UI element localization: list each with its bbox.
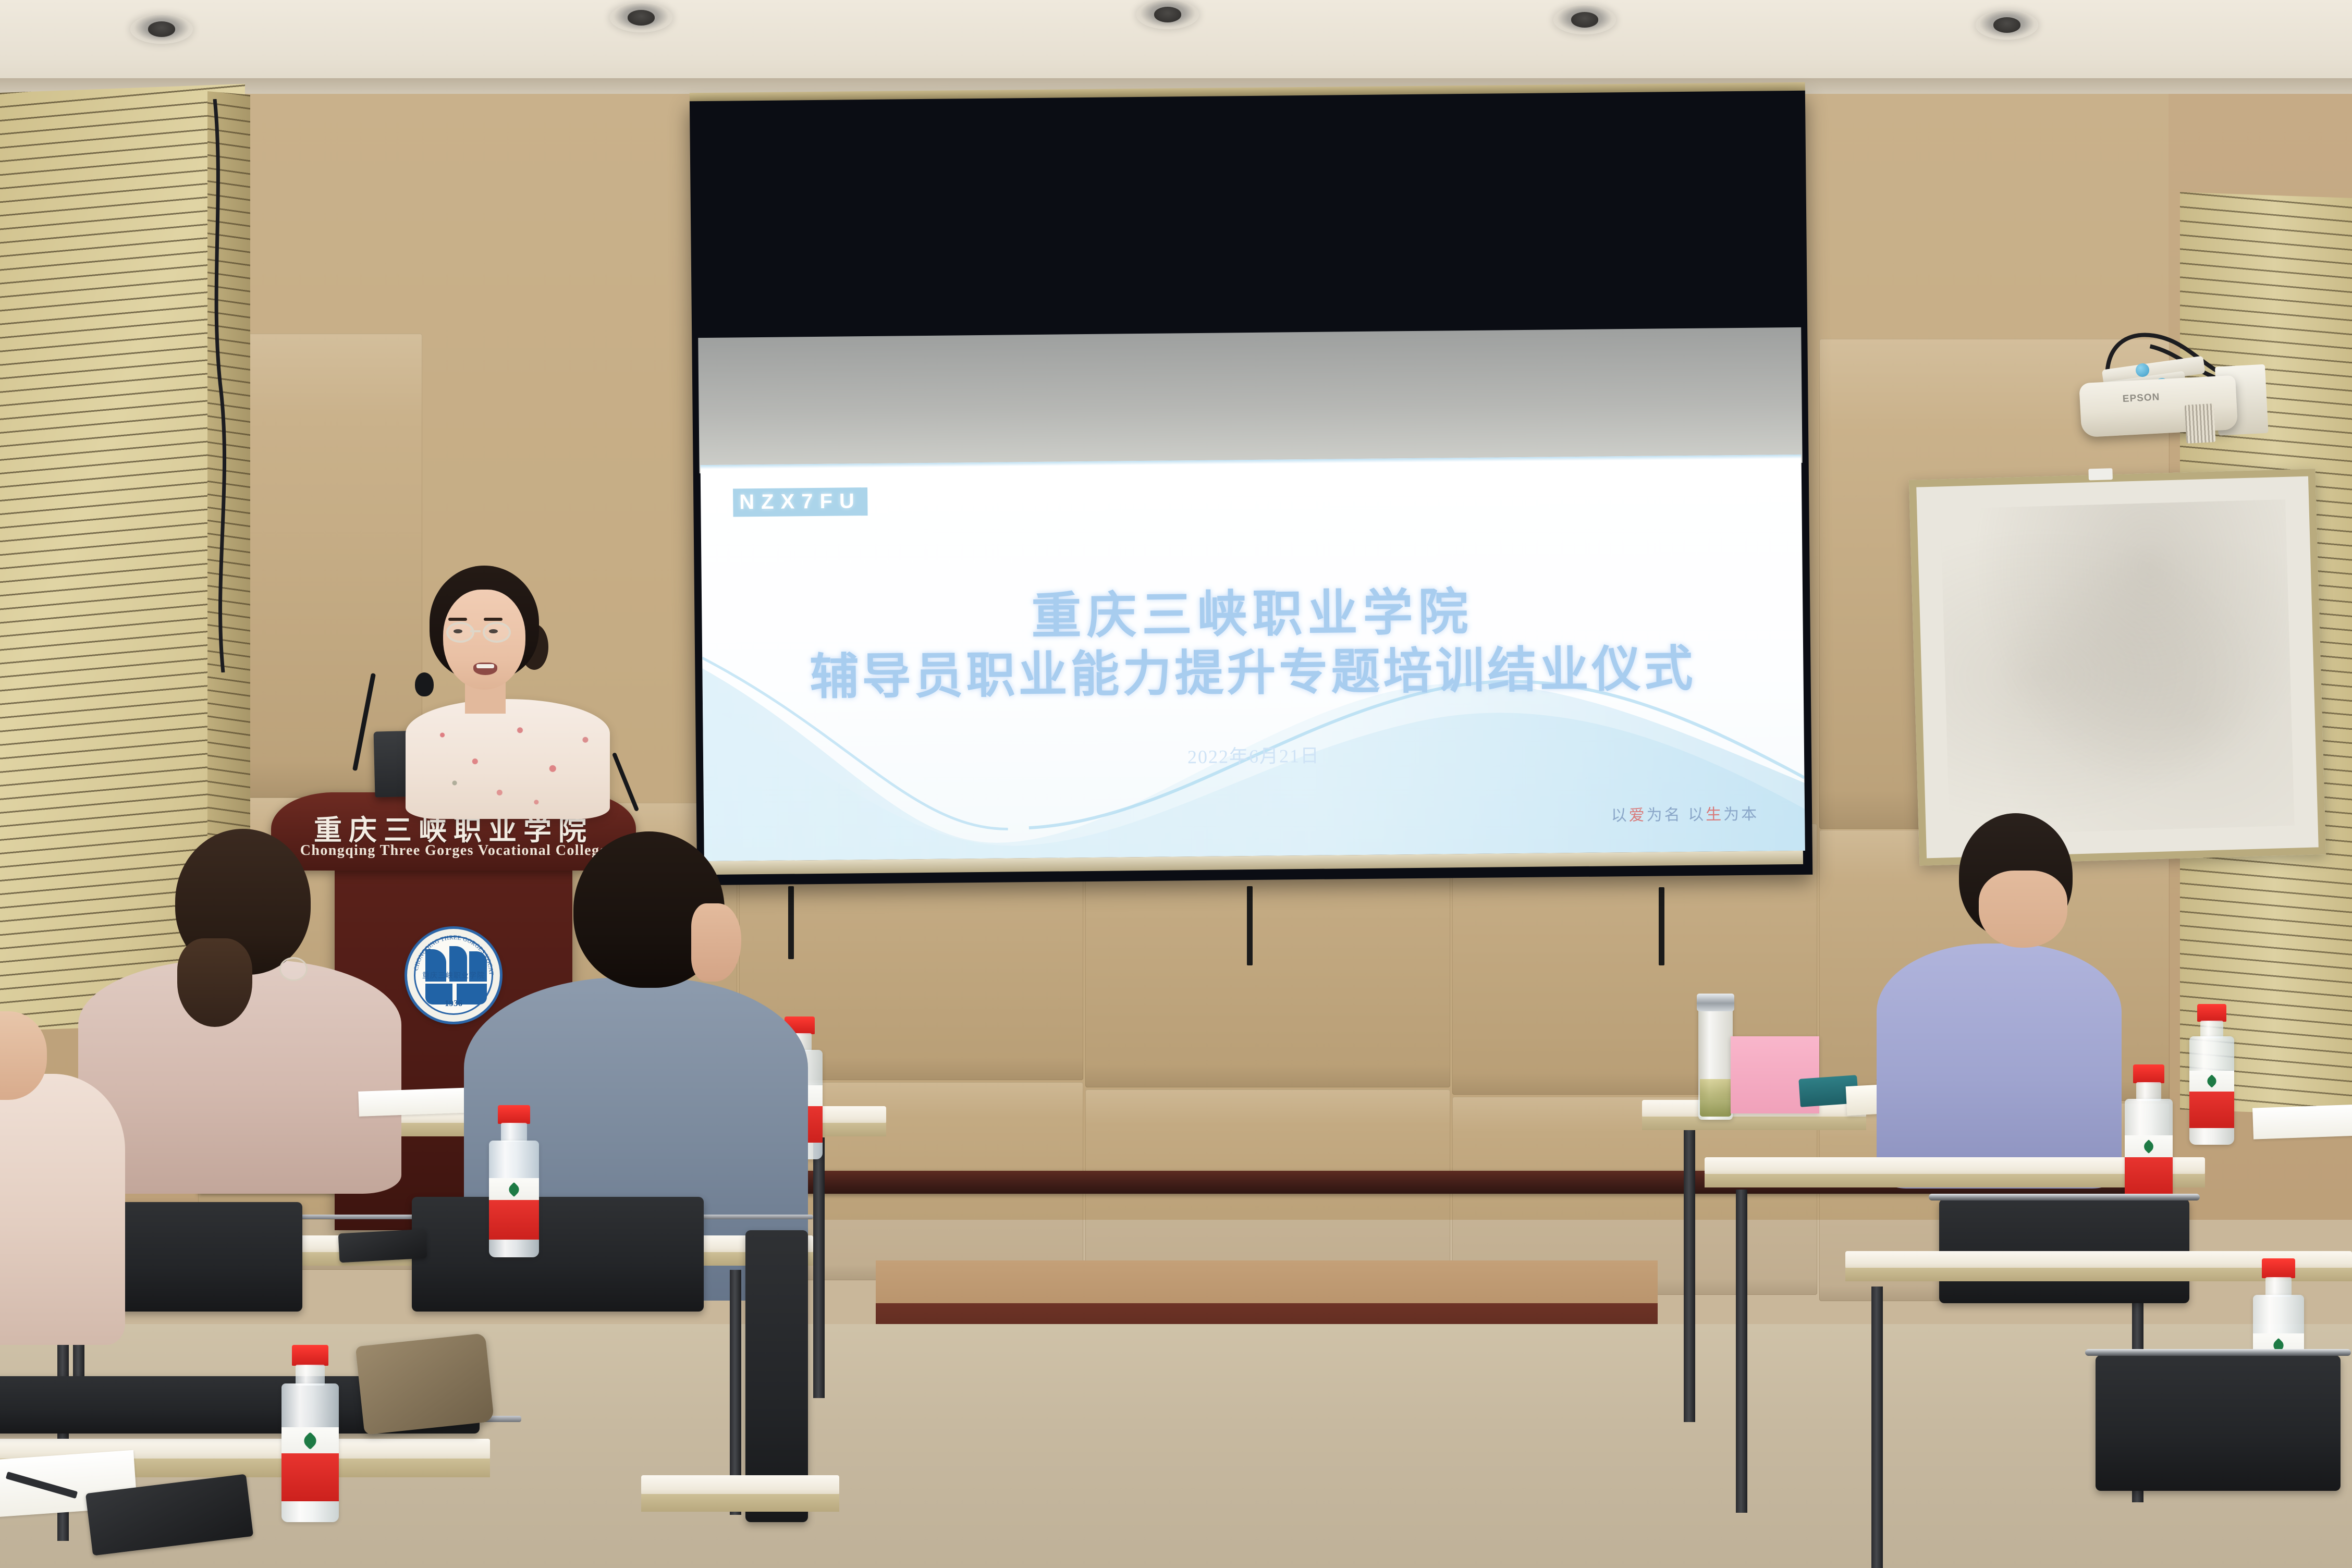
presenter-glasses bbox=[483, 622, 511, 643]
attendee-right bbox=[1877, 813, 2137, 1189]
slogan-part: 为本 bbox=[1723, 806, 1759, 824]
tea-tumbler bbox=[1698, 996, 1733, 1120]
water-bottle[interactable] bbox=[489, 1105, 539, 1256]
projector-brand-label: EPSON bbox=[2122, 391, 2160, 405]
slide-watermark: NZX7FU bbox=[733, 487, 867, 517]
attendee-left-front bbox=[78, 829, 412, 1194]
handbag bbox=[356, 1333, 494, 1435]
slide-title-line1: 重庆三峡职业学院 bbox=[702, 580, 1803, 650]
projector-vent bbox=[2185, 403, 2216, 444]
projector-body bbox=[2079, 375, 2238, 438]
hanging-strap bbox=[1247, 886, 1253, 965]
slogan-part-accent: 生 bbox=[1706, 806, 1723, 823]
whiteboard bbox=[1909, 469, 2326, 865]
hanging-strap bbox=[1659, 887, 1664, 965]
downlight-icon bbox=[1136, 0, 1199, 29]
slogan-part: 以 bbox=[1611, 807, 1628, 824]
projector: EPSON bbox=[2078, 355, 2269, 443]
presenter-glasses bbox=[446, 622, 474, 643]
slide-surface: NZX7FU 重庆三峡职业学院 辅导员职业能力提升专题培训结业仪式 2022年6… bbox=[701, 455, 1805, 861]
chair-chrome-rail bbox=[1929, 1194, 2200, 1200]
water-bottle[interactable] bbox=[281, 1345, 339, 1522]
wall-cable bbox=[203, 99, 245, 672]
projection-screen: NZX7FU 重庆三峡职业学院 辅导员职业能力提升专题培训结业仪式 2022年6… bbox=[690, 82, 1812, 885]
attendee-glasses bbox=[279, 957, 308, 981]
attendee-far-left bbox=[0, 1011, 125, 1345]
chair-back[interactable] bbox=[412, 1197, 704, 1312]
presenter-mouth bbox=[473, 663, 497, 675]
desk-leg bbox=[1684, 1130, 1695, 1422]
smartphone[interactable] bbox=[338, 1229, 427, 1263]
desk-leg bbox=[1871, 1287, 1883, 1568]
downlight-icon bbox=[1553, 5, 1616, 34]
slogan-part-accent: 爱 bbox=[1628, 807, 1646, 824]
desk-front-center bbox=[641, 1475, 839, 1516]
chair-chrome-rail bbox=[2085, 1349, 2351, 1356]
chair-back[interactable] bbox=[2096, 1355, 2341, 1491]
conference-room-photo: NZX7FU 重庆三峡职业学院 辅导员职业能力提升专题培训结业仪式 2022年6… bbox=[0, 0, 2352, 1568]
presenter-blouse bbox=[406, 699, 610, 819]
screen-grey-band bbox=[698, 327, 1802, 473]
paper-sheet[interactable] bbox=[2252, 1104, 2352, 1139]
downlight-icon bbox=[1976, 10, 2038, 40]
water-bottle[interactable] bbox=[2125, 1064, 2173, 1214]
slide-title: 重庆三峡职业学院 辅导员职业能力提升专题培训结业仪式 bbox=[702, 580, 1804, 709]
presenter-speaker bbox=[396, 566, 615, 811]
slide-slogan: 以爱为名 以生为本 bbox=[1611, 801, 1759, 826]
downlight-icon bbox=[610, 3, 672, 32]
whiteboard-clip bbox=[2088, 468, 2113, 480]
desk-leg bbox=[1736, 1190, 1747, 1513]
notebook[interactable] bbox=[358, 1087, 474, 1117]
downlight-icon bbox=[130, 15, 193, 44]
water-bottle[interactable] bbox=[2189, 1004, 2234, 1145]
slide-title-line2: 辅导员职业能力提升专题培训结业仪式 bbox=[702, 639, 1804, 709]
slogan-part: 为名 以 bbox=[1646, 806, 1706, 824]
